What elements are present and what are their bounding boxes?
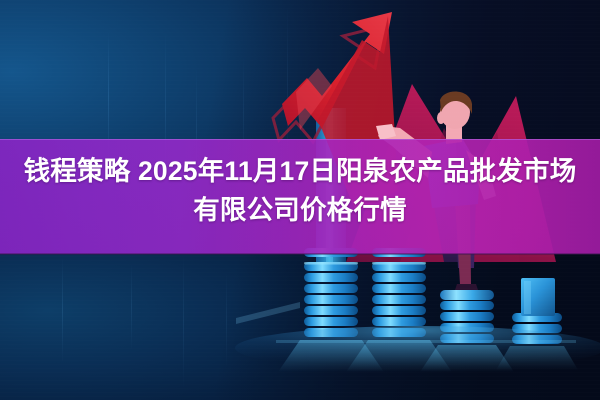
title-band-top-edge xyxy=(0,139,600,140)
banner-headline: 钱程策略 2025年11月17日阳泉农产品批发市场有限公司价格行情 xyxy=(0,152,600,230)
title-band-bottom-edge xyxy=(0,253,600,255)
banner-image: 钱程策略 2025年11月17日阳泉农产品批发市场有限公司价格行情 xyxy=(0,0,600,400)
